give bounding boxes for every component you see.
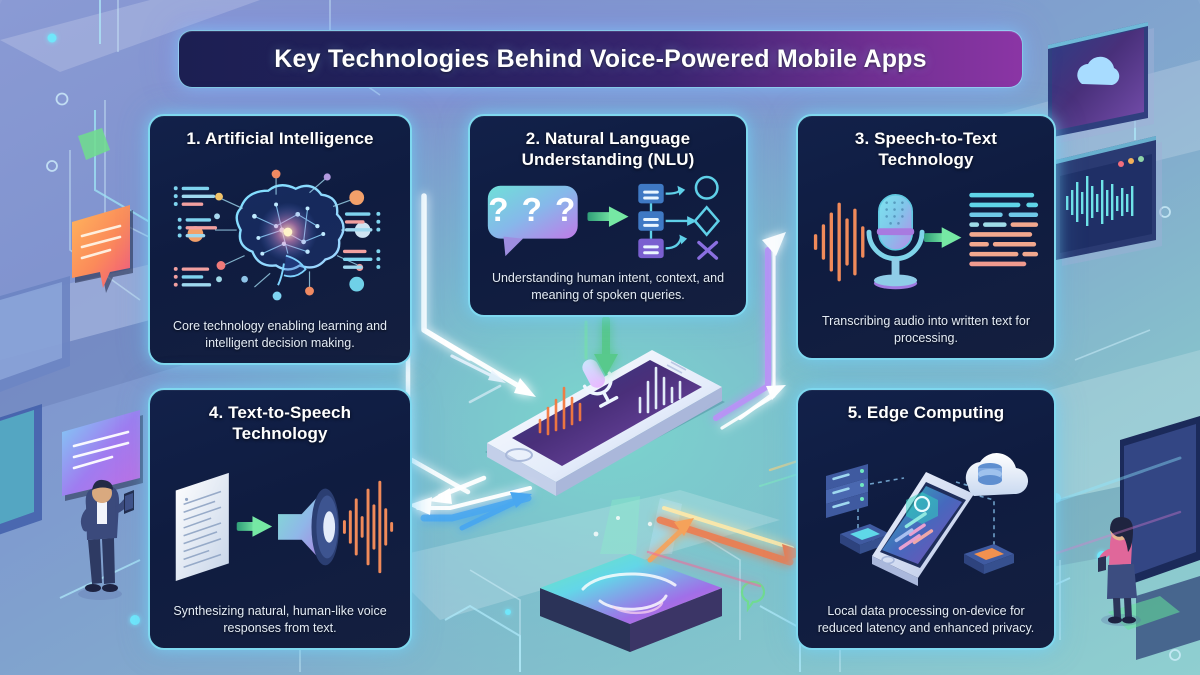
man-with-phone-figure	[78, 480, 134, 600]
infographic-title-bar: Key Technologies Behind Voice-Powered Mo…	[178, 30, 1023, 88]
document-icon	[176, 472, 229, 580]
card-4-artwork	[160, 444, 400, 603]
document-to-speaker-icon	[160, 458, 400, 590]
speaker-icon	[278, 488, 339, 565]
card-speech-to-text[interactable]: 3. Speech-to-Text Technology	[796, 114, 1056, 360]
card-4-caption: Synthesizing natural, human-like voice r…	[160, 603, 400, 638]
brain-network-icon	[160, 164, 400, 304]
card-5-artwork	[808, 423, 1044, 603]
microphone-to-text-icon	[808, 176, 1044, 308]
device-cloud-servers-icon	[808, 438, 1044, 588]
data-bars-right	[343, 211, 380, 268]
data-bars-left	[174, 186, 217, 286]
server-stack-icon	[826, 464, 868, 518]
page-title: Key Technologies Behind Voice-Powered Mo…	[274, 45, 927, 74]
edge-phone-icon	[872, 472, 974, 586]
cloud-window-panel	[1048, 22, 1154, 144]
svg-text:? ? ?: ? ? ?	[488, 192, 577, 229]
card-edge-computing[interactable]: 5. Edge Computing	[796, 388, 1056, 650]
card-2-caption: Understanding human intent, context, and…	[480, 270, 736, 305]
infographic-canvas: Key Technologies Behind Voice-Powered Mo…	[0, 0, 1200, 675]
blue-arrow-center-to-tts	[408, 478, 532, 528]
card-5-title: 5. Edge Computing	[848, 402, 1005, 423]
card-1-caption: Core technology enabling learning and in…	[160, 318, 400, 353]
card-artificial-intelligence[interactable]: 1. Artificial Intelligence	[148, 114, 412, 365]
card-4-title: 4. Text-to-Speech Technology	[160, 402, 400, 444]
chip-right-icon	[964, 544, 1014, 574]
flowchart-icon	[638, 177, 718, 258]
transcript-lines-icon	[969, 192, 1038, 265]
audio-waveform-icon	[343, 480, 393, 572]
green-arrow-icon	[924, 227, 961, 248]
question-bubble-flowchart-icon: ? ? ?	[480, 173, 736, 267]
card-1-artwork	[160, 149, 400, 318]
green-arrow-icon	[237, 516, 272, 537]
card-1-title: 1. Artificial Intelligence	[186, 128, 373, 149]
card-3-title: 3. Speech-to-Text Technology	[808, 128, 1044, 170]
card-natural-language-understanding[interactable]: 2. Natural Language Understanding (NLU) …	[468, 114, 748, 317]
card-text-to-speech[interactable]: 4. Text-to-Speech Technology	[148, 388, 412, 650]
cloud-database-icon	[966, 453, 1028, 496]
card-2-artwork: ? ? ?	[480, 170, 736, 270]
card-3-artwork	[808, 170, 1044, 313]
card-5-caption: Local data processing on-device for redu…	[808, 603, 1044, 638]
card-2-title: 2. Natural Language Understanding (NLU)	[480, 128, 736, 170]
microphone-icon	[869, 194, 922, 288]
audio-waveform-icon	[814, 202, 865, 281]
card-3-caption: Transcribing audio into written text for…	[808, 313, 1044, 348]
green-arrow-icon	[587, 206, 628, 227]
